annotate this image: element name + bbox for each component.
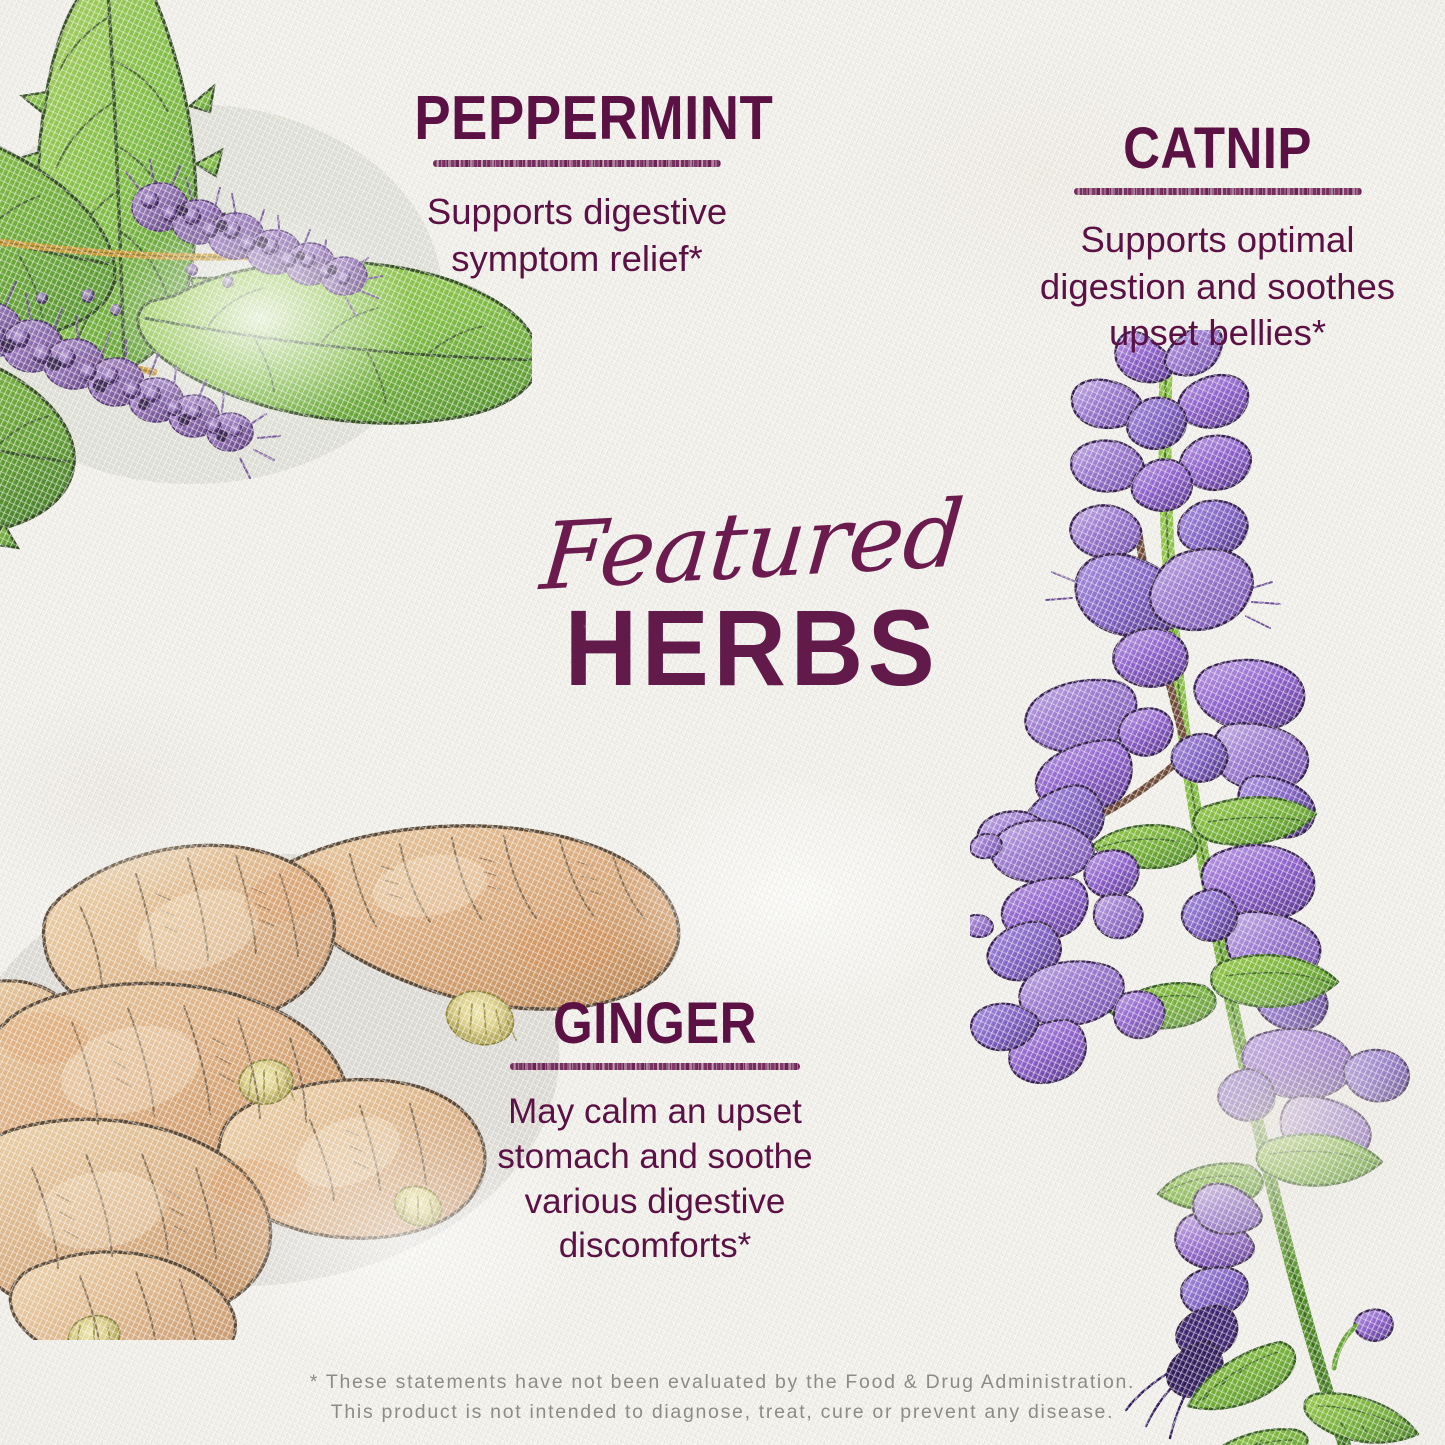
herb-block-ginger: GINGER May calm an upset stomach and soo…: [460, 995, 850, 1269]
disclaimer-line-1: * These statements have not been evaluat…: [0, 1367, 1445, 1397]
wordmark-herbs: HERBS: [492, 594, 1013, 702]
wordmark-script-featured: Featured: [537, 488, 966, 604]
catnip-description: Supports optimal digestion and soothes u…: [1030, 217, 1405, 357]
catnip-description-line-3: upset bellies*: [1030, 310, 1405, 357]
catnip-title: CATNIP: [1053, 120, 1383, 178]
ginger-description-line-2: stomach and soothe: [460, 1135, 850, 1180]
ginger-title: GINGER: [483, 995, 826, 1053]
herb-block-peppermint: PEPPERMINT Supports digestive symptom re…: [392, 88, 762, 282]
peppermint-description-line-1: Supports digestive: [392, 189, 762, 236]
herb-block-catnip: CATNIP Supports optimal digestion and so…: [1030, 120, 1405, 357]
catnip-flower-illustration: [970, 330, 1445, 1445]
disclaimer-line-2: This product is not intended to diagnose…: [0, 1397, 1445, 1427]
featured-herbs-wordmark: Featured HERBS: [472, 500, 1032, 702]
catnip-title-rule: [1074, 188, 1362, 195]
peppermint-description-line-2: symptom relief*: [392, 236, 762, 283]
catnip-description-line-2: digestion and soothes: [1030, 264, 1405, 311]
ginger-description-line-1: May calm an upset: [460, 1090, 850, 1135]
catnip-description-line-1: Supports optimal: [1030, 217, 1405, 264]
fda-disclaimer: * These statements have not been evaluat…: [0, 1367, 1445, 1427]
peppermint-description: Supports digestive symptom relief*: [392, 189, 762, 282]
ginger-description-line-3: various digestive: [460, 1180, 850, 1225]
peppermint-title-rule: [433, 160, 721, 167]
featured-herbs-infographic: PEPPERMINT Supports digestive symptom re…: [0, 0, 1445, 1445]
ginger-description: May calm an upset stomach and soothe var…: [460, 1090, 850, 1269]
peppermint-title: PEPPERMINT: [414, 88, 740, 150]
ginger-description-line-4: discomforts*: [460, 1224, 850, 1269]
ginger-title-rule: [510, 1063, 800, 1070]
